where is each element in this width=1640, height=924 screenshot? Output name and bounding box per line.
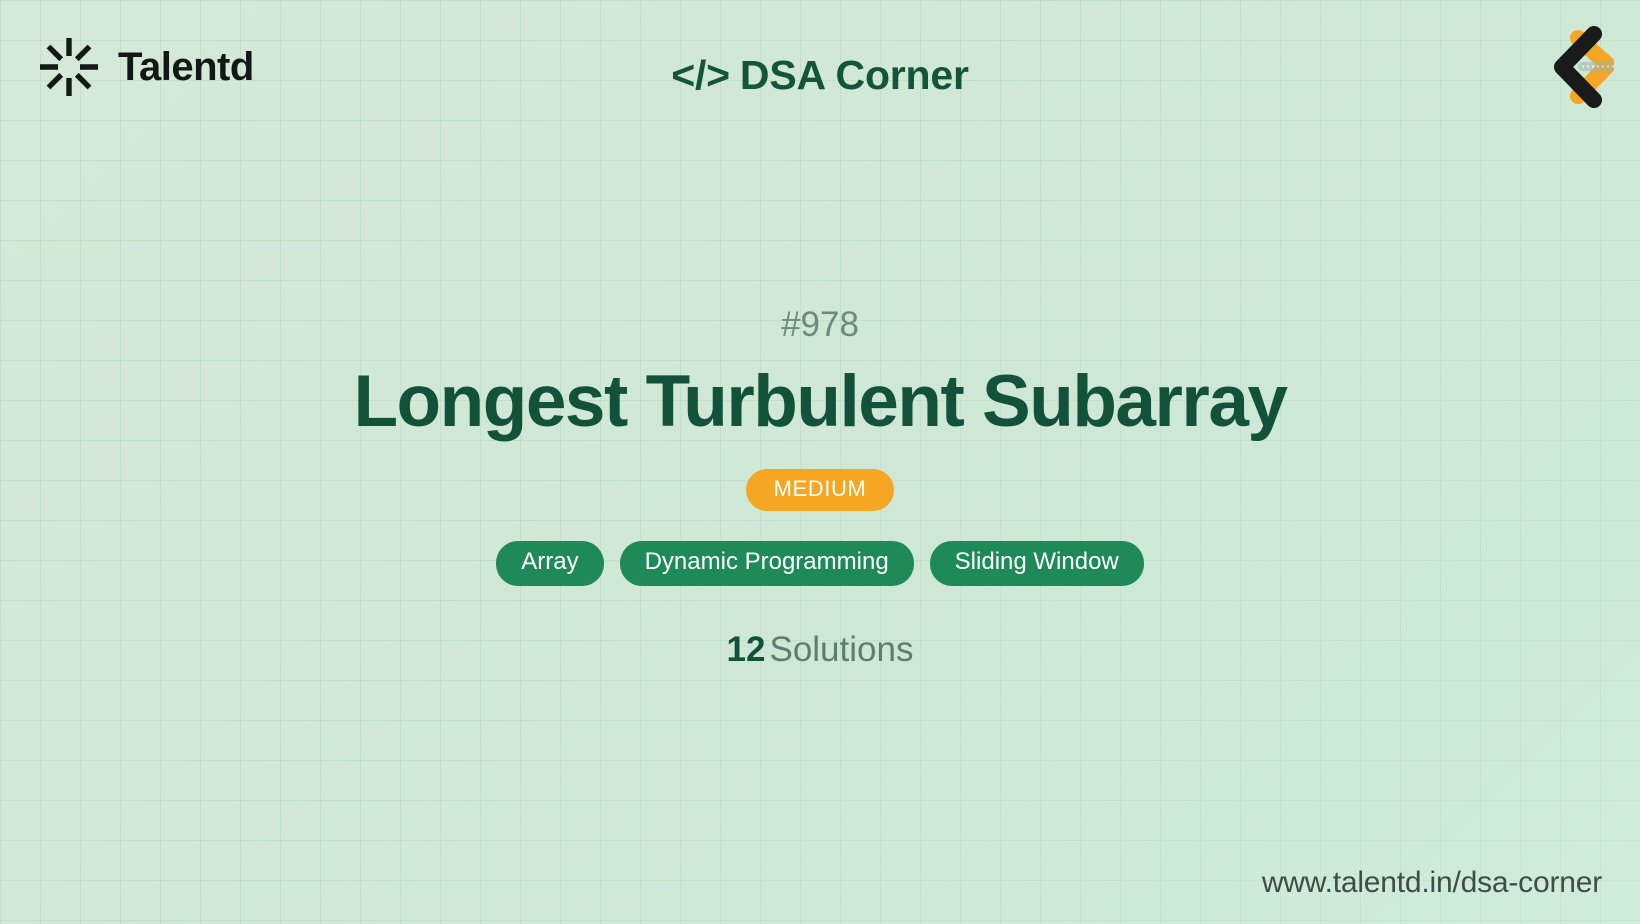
dsa-corner-poster: Talentd </>DSA Corner [0, 0, 1640, 924]
code-tag-label: </> [671, 52, 730, 98]
page-title: </>DSA Corner [0, 52, 1640, 99]
poster-footer: www.talentd.in/dsa-corner [1262, 868, 1602, 898]
chevron-bracket-logo-icon [1522, 22, 1614, 114]
poster-main-content: #978 Longest Turbulent Subarray MEDIUM A… [0, 150, 1640, 824]
tag-pill-dynamic-programming[interactable]: Dynamic Programming [620, 541, 914, 586]
tag-list: Array Dynamic Programming Sliding Window [496, 541, 1144, 586]
tag-pill-sliding-window[interactable]: Sliding Window [930, 541, 1144, 586]
solutions-count-value: 12 [727, 630, 766, 669]
footer-url[interactable]: www.talentd.in/dsa-corner [1262, 866, 1602, 899]
header-title-label: DSA Corner [740, 52, 969, 98]
solutions-count-line: 12Solutions [727, 632, 914, 667]
tag-pill-array[interactable]: Array [496, 541, 603, 586]
solutions-count-label: Solutions [769, 630, 913, 669]
difficulty-badge: MEDIUM [746, 469, 895, 511]
problem-number: #978 [781, 307, 859, 342]
poster-header: Talentd </>DSA Corner [0, 0, 1640, 150]
problem-title: Longest Turbulent Subarray [353, 364, 1286, 441]
